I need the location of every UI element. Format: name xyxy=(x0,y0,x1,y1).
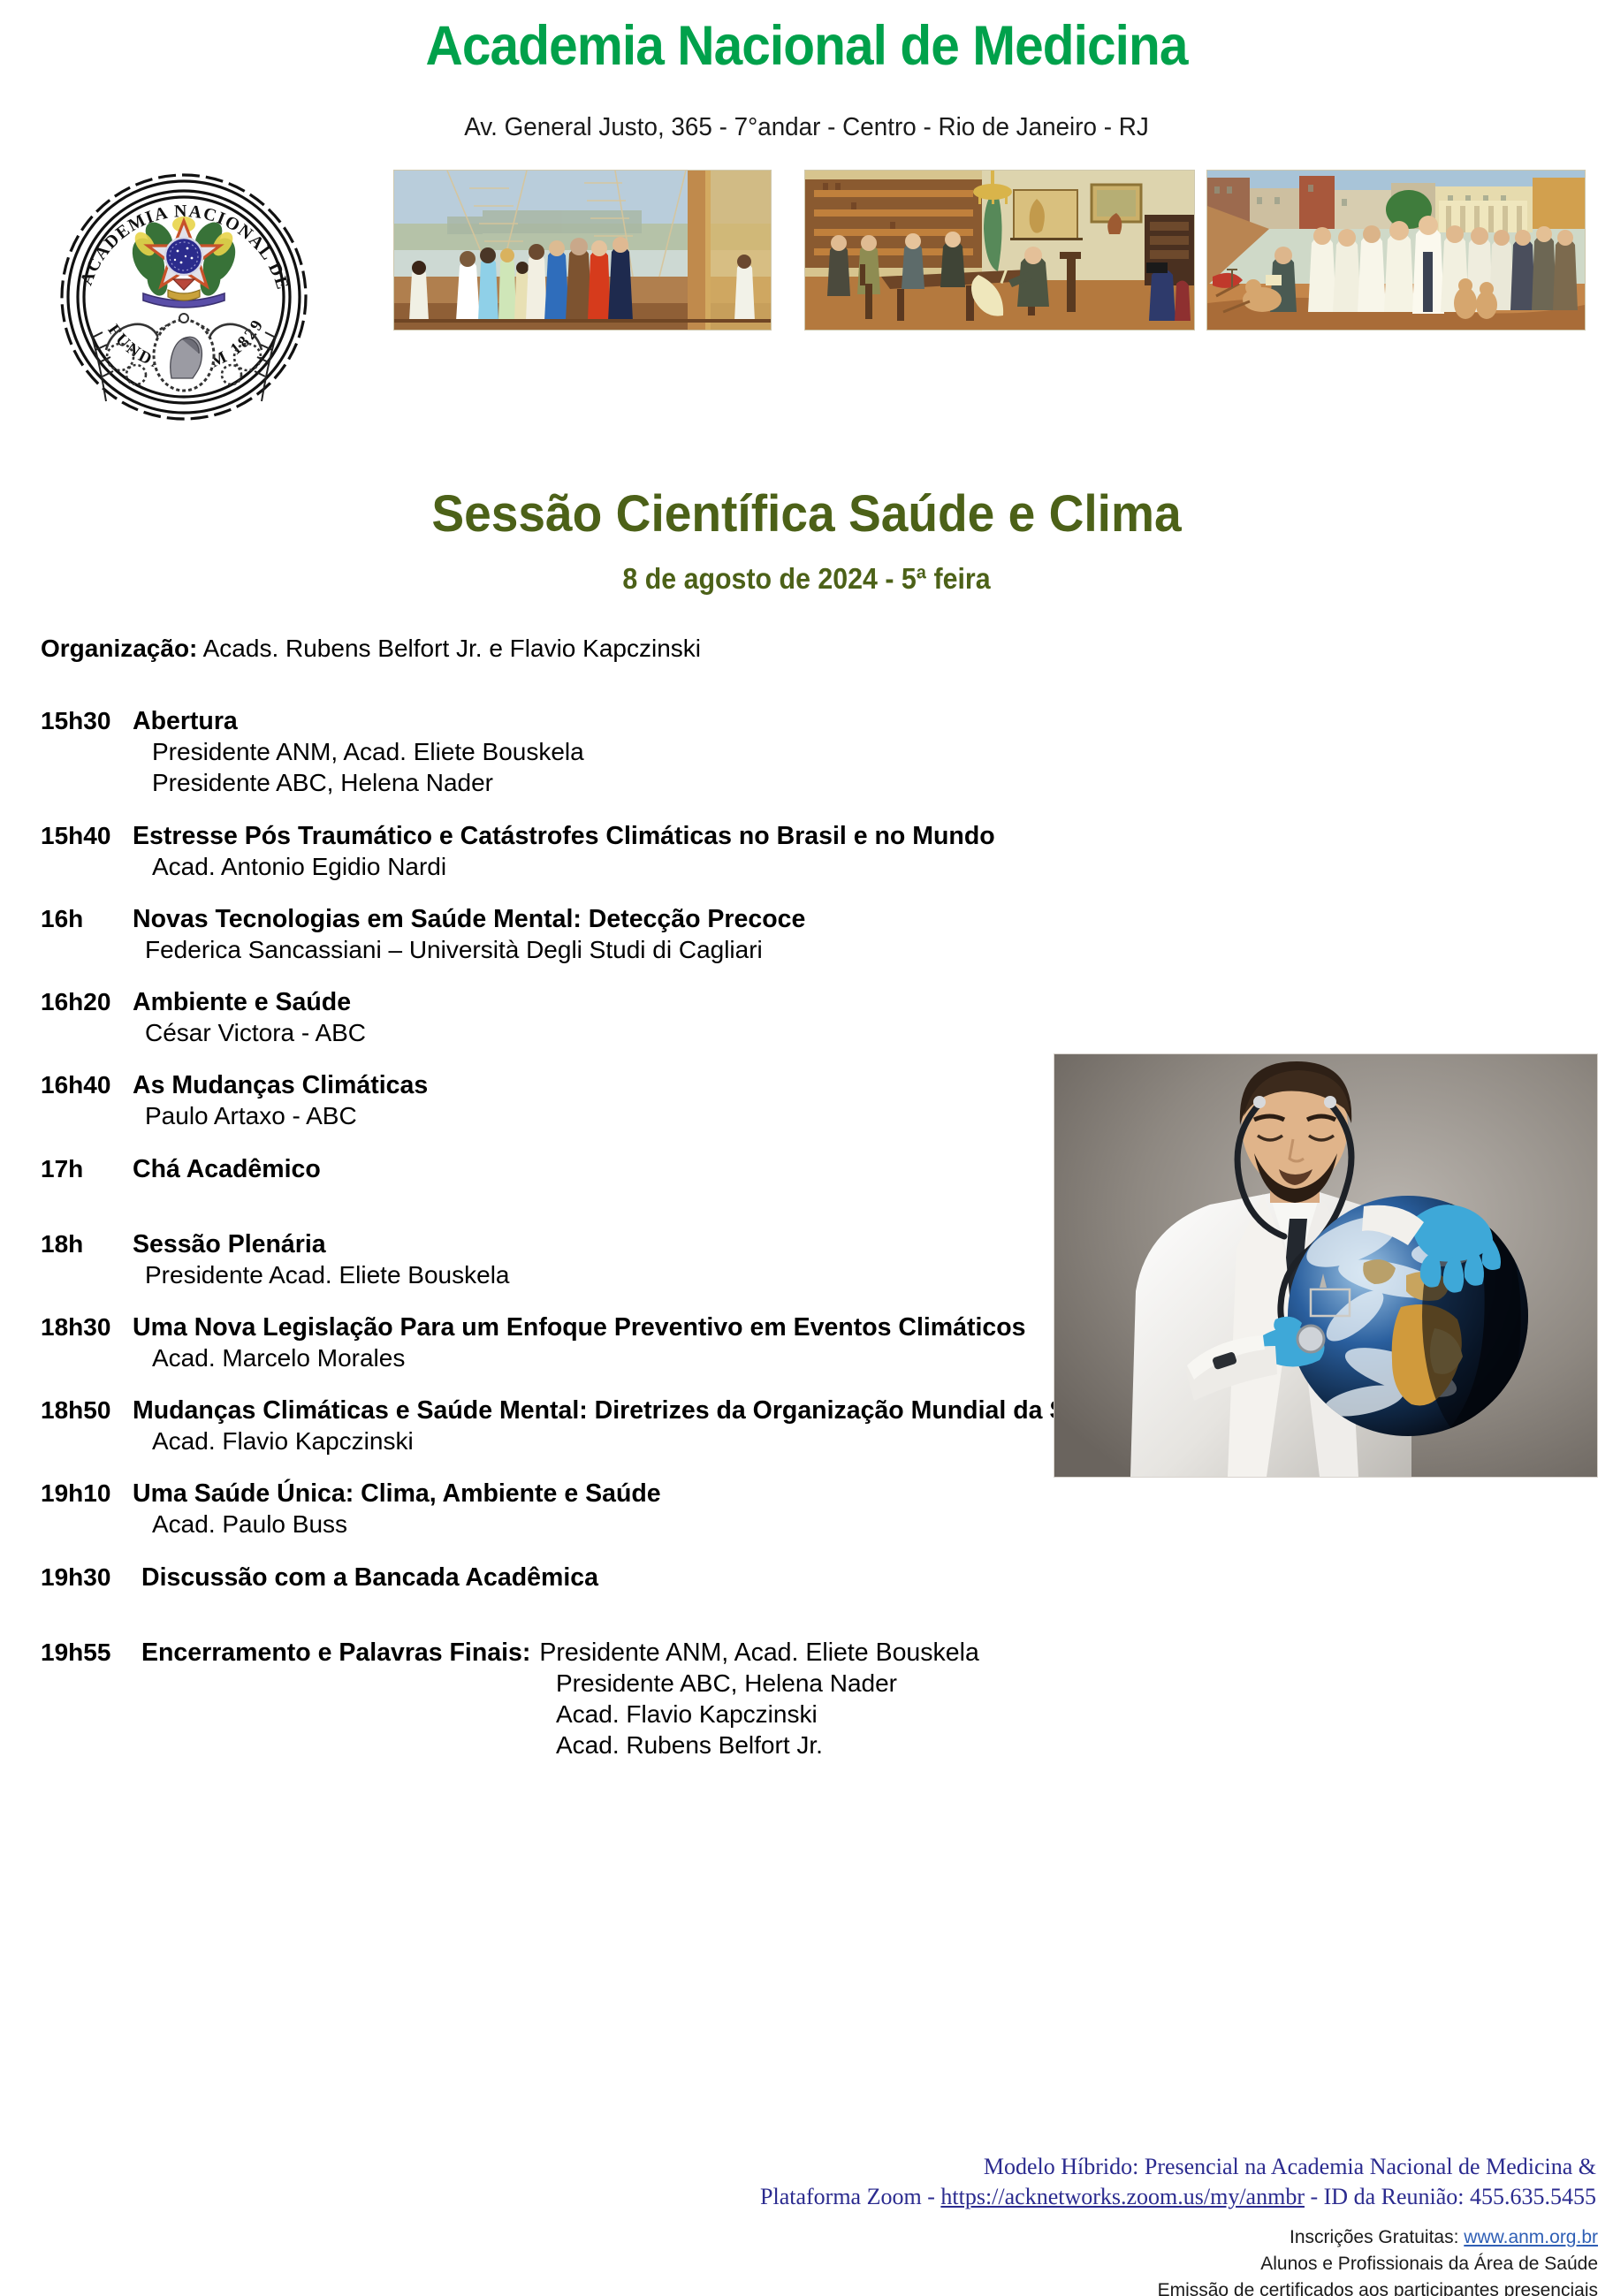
organization-name: Academia Nacional de Medicina xyxy=(57,14,1556,78)
program-time: 15h30 xyxy=(41,707,133,735)
program-item: 16h Novas Tecnologias em Saúde Mental: D… xyxy=(41,905,1596,965)
program-speaker: César Victora - ABC xyxy=(145,1017,1596,1048)
program-title: As Mudanças Climáticas xyxy=(133,1071,428,1100)
program-time: 16h40 xyxy=(41,1071,133,1099)
program-time: 18h xyxy=(41,1230,133,1258)
program-item: 19h30 Discussão com a Bancada Acadêmica xyxy=(41,1563,1596,1593)
program-time: 16h20 xyxy=(41,988,133,1016)
program-title: Abertura xyxy=(133,707,238,736)
program-speaker: Federica Sancassiani – Università Degli … xyxy=(145,934,1596,965)
program-title: Sessão Plenária xyxy=(133,1230,326,1259)
program-title: Novas Tecnologias em Saúde Mental: Detec… xyxy=(133,905,805,934)
program-speaker: Acad. Paulo Buss xyxy=(152,1509,1596,1540)
program-title: Estresse Pós Traumático e Catástrofes Cl… xyxy=(133,822,995,851)
academy-seal-logo: ACADEMIA NACIONAL DE MEDICINA FUNDADA EM… xyxy=(51,157,316,431)
program-title: Mudanças Climáticas e Saúde Mental: Dire… xyxy=(133,1396,1125,1425)
program-item: 15h30 Abertura Presidente ANM, Acad. Eli… xyxy=(41,707,1596,799)
doctor-examining-earth-globe-photo xyxy=(1054,1053,1598,1478)
program-item: 19h55 Encerramento e Palavras Finais: Pr… xyxy=(41,1638,1596,1761)
registration-info: Inscrições Gratuitas: www.anm.org.br Alu… xyxy=(0,2224,1598,2296)
program-speaker: Acad. Antonio Egidio Nardi xyxy=(152,851,1596,882)
arrival-of-royal-family-on-ship-painting xyxy=(393,170,772,331)
registration-label: Inscrições Gratuitas: xyxy=(1290,2227,1464,2247)
program-title: Ambiente e Saúde xyxy=(133,988,351,1017)
signing-of-foundation-document-painting xyxy=(804,170,1195,331)
program-time: 15h40 xyxy=(41,822,133,850)
audience-line: Alunos e Profissionais da Área de Saúde xyxy=(0,2251,1598,2277)
program-speaker: Presidente ANM, Acad. Eliete Bouskela xyxy=(152,736,1596,767)
program-title: Uma Saúde Única: Clima, Ambiente e Saúde xyxy=(133,1479,661,1509)
registration-line: Inscrições Gratuitas: www.anm.org.br xyxy=(0,2224,1598,2251)
organizers-value: Acads. Rubens Belfort Jr. e Flavio Kapcz… xyxy=(203,635,701,662)
hybrid-line-1: Modelo Híbrido: Presencial na Academia N… xyxy=(0,2152,1596,2182)
program-title: Discussão com a Bancada Acadêmica xyxy=(141,1563,598,1593)
program-time: 19h55 xyxy=(41,1638,133,1667)
event-program-poster: Academia Nacional de Medicina Av. Genera… xyxy=(0,0,1613,2296)
program-inline-speaker: Presidente ANM, Acad. Eliete Bouskela xyxy=(539,1638,978,1668)
program-time: 18h30 xyxy=(41,1313,133,1342)
organizers-label: Organização: xyxy=(41,635,197,662)
program-item: 19h10 Uma Saúde Única: Clima, Ambiente e… xyxy=(41,1479,1596,1540)
program-time: 17h xyxy=(41,1155,133,1183)
program-title: Uma Nova Legislação Para um Enfoque Prev… xyxy=(133,1313,1026,1342)
certificates-line: Emissão de certificados aos participante… xyxy=(0,2277,1598,2296)
program-time: 19h30 xyxy=(41,1563,133,1592)
session-date: 8 de agosto de 2024 - 5ª feira xyxy=(65,562,1548,596)
hybrid-line-2: Plataforma Zoom - https://acknetworks.zo… xyxy=(0,2182,1596,2212)
program-time: 19h10 xyxy=(41,1479,133,1508)
hybrid-model-note: Modelo Híbrido: Presencial na Academia N… xyxy=(0,2152,1596,2213)
zoom-meeting-link[interactable]: https://acknetworks.zoom.us/my/anmbr xyxy=(940,2184,1305,2209)
doctors-in-city-street-painting xyxy=(1206,170,1586,331)
registration-link[interactable]: www.anm.org.br xyxy=(1464,2227,1598,2247)
program-speaker: Acad. Rubens Belfort Jr. xyxy=(556,1730,1596,1760)
program-speaker: Acad. Flavio Kapczinski xyxy=(556,1699,1596,1730)
program-time: 16h xyxy=(41,905,133,933)
zoom-platform-label: Plataforma Zoom - xyxy=(760,2184,940,2209)
zoom-meeting-id: - ID da Reunião: 455.635.5455 xyxy=(1305,2184,1596,2209)
session-title: Sessão Científica Saúde e Clima xyxy=(41,484,1573,544)
program-time: 18h50 xyxy=(41,1396,133,1425)
program-item: 15h40 Estresse Pós Traumático e Catástro… xyxy=(41,822,1596,882)
program-speaker: Presidente ABC, Helena Nader xyxy=(152,767,1596,798)
program-item: 16h20 Ambiente e Saúde César Victora - A… xyxy=(41,988,1596,1048)
program-speaker: Presidente ABC, Helena Nader xyxy=(556,1668,1596,1699)
organizers-line: Organização: Acads. Rubens Belfort Jr. e… xyxy=(41,635,701,663)
program-title: Encerramento e Palavras Finais: xyxy=(141,1638,530,1668)
program-title: Chá Acadêmico xyxy=(133,1155,321,1184)
organization-address: Av. General Justo, 365 - 7°andar - Centr… xyxy=(33,113,1581,142)
